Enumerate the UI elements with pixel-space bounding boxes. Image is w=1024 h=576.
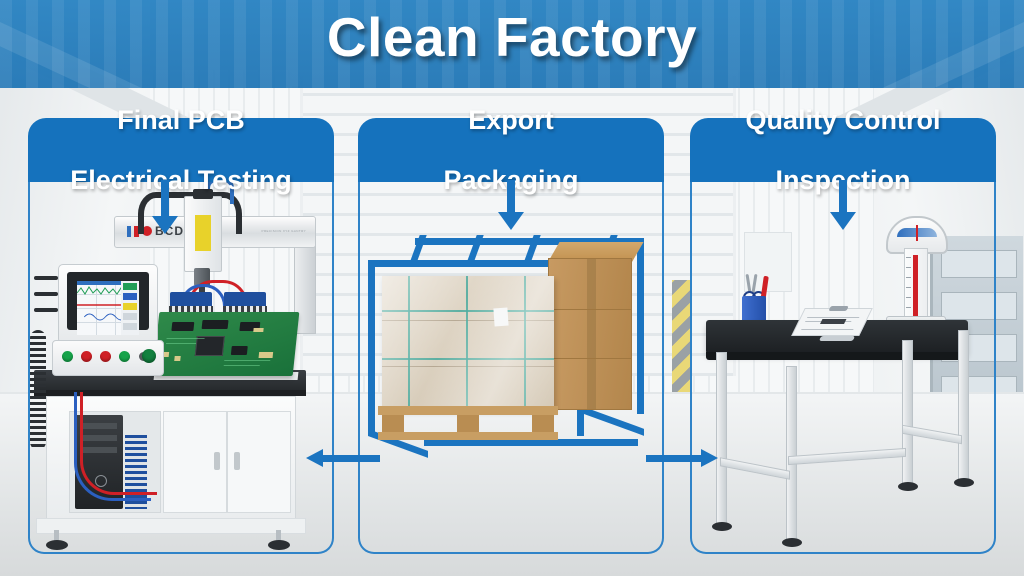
test-controller-unit[interactable]: [52, 340, 164, 376]
panel-quality-control-inspection[interactable]: Quality Control Inspection: [690, 118, 996, 554]
panel-final-pcb-electrical-testing[interactable]: BCD PRECISION XYZ GANTRY: [28, 118, 334, 554]
panel-title-line1: Export: [443, 105, 578, 135]
ruler-icon: [819, 336, 855, 341]
main-chip: [195, 336, 225, 356]
checklist-block: [820, 319, 846, 324]
panel-export-packaging[interactable]: Export Packaging: [358, 118, 664, 554]
oscilloscope-screen: [67, 272, 149, 330]
green-pcb: [153, 312, 300, 376]
carton-box: [548, 309, 632, 359]
title-banner: Clean Factory: [0, 0, 1024, 88]
wooden-pallet: [378, 406, 558, 440]
leveling-foot: [46, 540, 68, 550]
panel-header: Final PCB Electrical Testing: [28, 118, 334, 182]
emergency-button[interactable]: [142, 349, 156, 363]
panel-title-line1: Quality Control: [746, 105, 941, 135]
clipboard[interactable]: [791, 308, 873, 336]
button-power[interactable]: [81, 351, 92, 362]
probe-cables: [34, 276, 60, 336]
button-stop[interactable]: [100, 351, 111, 362]
down-arrow-icon: [152, 180, 178, 234]
dial-gauge-tester[interactable]: [886, 216, 944, 328]
gauge-column: [904, 248, 928, 322]
panel-body: [358, 180, 664, 554]
leveling-foot: [782, 538, 802, 547]
cabinet-door-right[interactable]: [227, 411, 291, 513]
leveling-foot: [268, 540, 290, 550]
leveling-foot: [712, 522, 732, 531]
table-rail: [720, 457, 790, 480]
leveling-foot: [898, 482, 918, 491]
cabinet-handle[interactable]: [214, 452, 220, 470]
down-arrow-icon: [830, 180, 856, 232]
gauge-needle-icon: [916, 225, 918, 241]
hazard-stripe-column: [672, 280, 690, 392]
cabinet-handle[interactable]: [234, 452, 240, 470]
panel-title-line1: Final PCB: [70, 105, 292, 135]
panel-title-line2: Electrical Testing: [70, 165, 292, 195]
table-leg: [786, 366, 797, 542]
red-signal-cable: [80, 392, 157, 495]
carton-stack: [548, 258, 632, 410]
panel-header: Quality Control Inspection: [690, 118, 996, 182]
table-leg: [958, 330, 969, 482]
cabinet-door-left[interactable]: [163, 411, 227, 513]
page-title: Clean Factory: [0, 5, 1024, 69]
oscilloscope[interactable]: [58, 264, 158, 344]
table-leg: [716, 352, 727, 526]
table-leg: [902, 340, 913, 486]
coiled-cable: [30, 330, 46, 450]
down-arrow-icon: [498, 180, 524, 232]
wrapped-pallet-load: [382, 276, 554, 410]
carton-box: [548, 258, 632, 310]
panel-body: [690, 180, 996, 554]
gantry-microtext: PRECISION XYZ GANTRY: [262, 229, 306, 233]
z-axis-actuator: [184, 196, 222, 272]
clipboard-clip-icon: [828, 306, 848, 311]
button-reset[interactable]: [119, 351, 130, 362]
scope-readout-panel: [121, 281, 139, 335]
leveling-foot: [954, 478, 974, 487]
button-start[interactable]: [62, 351, 73, 362]
panel-header: Export Packaging: [358, 118, 664, 182]
screenshot-stage: Clean Factory: [0, 0, 1024, 576]
shipping-label: [493, 308, 508, 327]
table-rail: [788, 448, 906, 465]
carton-box: [548, 358, 632, 410]
workbench-base-rail: [36, 518, 306, 534]
panel-body: BCD PRECISION XYZ GANTRY: [28, 180, 334, 554]
flow-arrow-right: [646, 449, 718, 467]
flow-arrow-left: [306, 449, 380, 467]
